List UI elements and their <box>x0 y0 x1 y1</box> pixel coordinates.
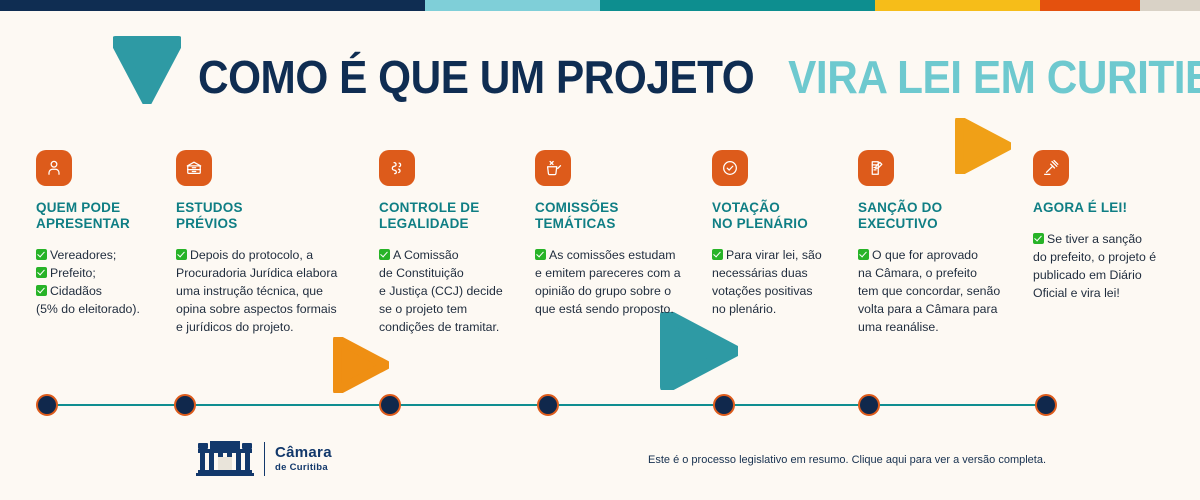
gavel-icon <box>1033 150 1069 186</box>
step-4-line-3: opinião do grupo sobre o <box>535 282 695 300</box>
step-column-7: AGORA É LEI!Se tiver a sançãodo prefeito… <box>1033 150 1173 302</box>
step-column-3: CONTROLE DELEGALIDADEA Comissãode Consti… <box>379 150 529 336</box>
parliament-building-icon <box>196 437 254 481</box>
topbar-segment-gold <box>875 0 1040 11</box>
step-4-line-1: As comissões estudam <box>535 246 695 264</box>
step-6-line-2: na Câmara, o prefeito <box>858 264 1023 282</box>
step-6-line-5: uma reanálise. <box>858 318 1023 336</box>
teal-triangle-down <box>113 36 181 104</box>
step-7-line-1: Se tiver a sanção <box>1033 230 1173 248</box>
step-6-line-1: O que for aprovado <box>858 246 1023 264</box>
report-edit-icon <box>535 150 571 186</box>
step-title-4: COMISSÕESTEMÁTICAS <box>535 200 695 232</box>
top-color-bar <box>0 0 1200 11</box>
page-title-part-1: COMO É QUE UM PROJETO <box>198 51 754 103</box>
step-1-line-2: Prefeito; <box>36 264 171 282</box>
check-icon <box>1033 233 1044 244</box>
step-4-line-2: e emitem pareceres com a <box>535 264 695 282</box>
camara-logo[interactable]: Câmara de Curitiba <box>196 437 332 481</box>
footer-note[interactable]: Este é o processo legislativo em resumo.… <box>648 454 1046 466</box>
step-5-line-1: Para virar lei, são <box>712 246 852 264</box>
step-5-line-3: votações positivas <box>712 282 852 300</box>
teal-triangle-right <box>660 312 738 390</box>
step-3-line-5: condições de tramitar. <box>379 318 529 336</box>
scales-icon <box>379 150 415 186</box>
timeline-dot-2[interactable] <box>174 394 196 416</box>
step-body-5: Para virar lei, sãonecessárias duasvotaç… <box>712 246 852 318</box>
topbar-segment-beige <box>1140 0 1200 11</box>
step-column-6: SANÇÃO DOEXECUTIVOO que for aprovadona C… <box>858 150 1023 336</box>
step-3-line-4: se o projeto tem <box>379 300 529 318</box>
step-1-line-4: (5% do eleitorado). <box>36 300 171 318</box>
step-body-2: Depois do protocolo, aProcuradoria Juríd… <box>176 246 352 336</box>
signature-icon <box>858 150 894 186</box>
step-2-line-2: Procuradoria Jurídica elabora <box>176 264 352 282</box>
topbar-segment-light-teal <box>425 0 600 11</box>
timeline-dot-1[interactable] <box>36 394 58 416</box>
step-title-6: SANÇÃO DOEXECUTIVO <box>858 200 1023 232</box>
step-body-6: O que for aprovadona Câmara, o prefeitot… <box>858 246 1023 336</box>
step-body-3: A Comissãode Constituiçãoe Justiça (CCJ)… <box>379 246 529 336</box>
logo-wordmark: Câmara de Curitiba <box>275 445 332 473</box>
check-icon <box>176 249 187 260</box>
step-5-line-2: necessárias duas <box>712 264 852 282</box>
topbar-segment-teal <box>600 0 875 11</box>
step-7-line-2: do prefeito, o projeto é <box>1033 248 1173 266</box>
step-title-2: ESTUDOSPRÉVIOS <box>176 200 352 232</box>
check-icon <box>36 285 47 296</box>
step-5-line-4: no plenário. <box>712 300 852 318</box>
check-circle-icon <box>712 150 748 186</box>
step-4-line-4: que está sendo proposto. <box>535 300 695 318</box>
person-icon <box>36 150 72 186</box>
timeline-dot-3[interactable] <box>379 394 401 416</box>
step-column-2: ESTUDOSPRÉVIOSDepois do protocolo, aProc… <box>176 150 352 336</box>
step-6-line-3: tem que concordar, senão <box>858 282 1023 300</box>
step-7-line-4: Oficial e vira lei! <box>1033 284 1173 302</box>
step-column-4: COMISSÕESTEMÁTICASAs comissões estudame … <box>535 150 695 318</box>
step-2-line-5: e jurídicos do projeto. <box>176 318 352 336</box>
check-icon <box>535 249 546 260</box>
step-title-5: VOTAÇÃONO PLENÁRIO <box>712 200 852 232</box>
check-icon <box>712 249 723 260</box>
step-3-line-2: de Constituição <box>379 264 529 282</box>
logo-divider <box>264 442 265 476</box>
check-icon <box>858 249 869 260</box>
step-column-5: VOTAÇÃONO PLENÁRIOPara virar lei, sãonec… <box>712 150 852 318</box>
check-icon <box>36 267 47 278</box>
orange-triangle-right <box>333 337 389 393</box>
step-3-line-1: A Comissão <box>379 246 529 264</box>
page-title-part-2: VIRA LEI EM CURITIBA <box>788 51 1200 103</box>
step-1-line-3: Cidadãos <box>36 282 171 300</box>
step-2-line-4: opina sobre aspectos formais <box>176 300 352 318</box>
step-2-line-3: uma instrução técnica, que <box>176 282 352 300</box>
check-icon <box>36 249 47 260</box>
infographic-page: COMO É QUE UM PROJETO VIRA LEI EM CURITI… <box>0 0 1200 500</box>
step-3-line-3: e Justiça (CCJ) decide <box>379 282 529 300</box>
step-title-1: QUEM PODEAPRESENTAR <box>36 200 171 232</box>
archive-icon <box>176 150 212 186</box>
step-6-line-4: volta para a Câmara para <box>858 300 1023 318</box>
logo-line-1: Câmara <box>275 445 332 460</box>
logo-line-2: de Curitiba <box>275 463 332 473</box>
page-title: COMO É QUE UM PROJETO VIRA LEI EM CURITI… <box>198 50 1200 104</box>
step-2-line-1: Depois do protocolo, a <box>176 246 352 264</box>
check-icon <box>379 249 390 260</box>
step-title-7: AGORA É LEI! <box>1033 200 1173 216</box>
topbar-segment-orange <box>1040 0 1140 11</box>
step-title-3: CONTROLE DELEGALIDADE <box>379 200 529 232</box>
topbar-segment-navy <box>0 0 425 11</box>
timeline-dot-5[interactable] <box>713 394 735 416</box>
footer-note-text: Este é o processo legislativo em resumo.… <box>648 454 1046 466</box>
step-7-line-3: publicado em Diário <box>1033 266 1173 284</box>
step-body-4: As comissões estudame emitem pareceres c… <box>535 246 695 318</box>
timeline-dot-7[interactable] <box>1035 394 1057 416</box>
step-body-7: Se tiver a sançãodo prefeito, o projeto … <box>1033 230 1173 302</box>
timeline-dot-4[interactable] <box>537 394 559 416</box>
step-1-line-1: Vereadores; <box>36 246 171 264</box>
step-column-1: QUEM PODEAPRESENTARVereadores;Prefeito;C… <box>36 150 171 318</box>
step-body-1: Vereadores;Prefeito;Cidadãos(5% do eleit… <box>36 246 171 318</box>
timeline-dot-6[interactable] <box>858 394 880 416</box>
